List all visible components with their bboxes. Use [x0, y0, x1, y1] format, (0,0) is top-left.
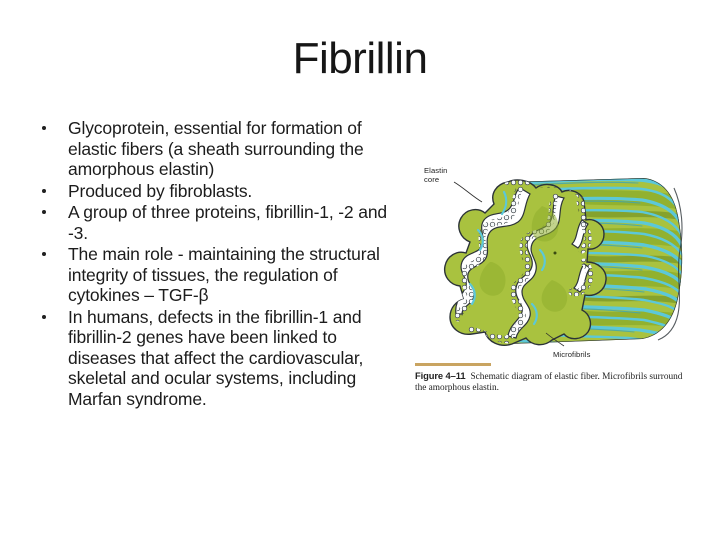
list-item-label: Glycoprotein, essential for formation of… [68, 118, 406, 180]
list-item-label: The main role - maintaining the structur… [68, 244, 406, 306]
list-item: In humans, defects in the fibrillin-1 an… [34, 307, 406, 410]
figure-label-microfibrils: Microfibrils [553, 350, 590, 359]
bullet-dot-icon [42, 315, 46, 319]
bullet-dot-icon [42, 189, 46, 193]
page-title: Fibrillin [0, 33, 720, 85]
bullet-dot-icon [42, 210, 46, 214]
figure-label-elastin-core: Elastin core [424, 166, 448, 184]
list-item-label: Produced by fibroblasts. [68, 181, 406, 202]
bullet-dot-icon [42, 252, 46, 256]
figure-caption: Figure 4–11Schematic diagram of elastic … [415, 370, 691, 395]
list-item: Produced by fibroblasts. [34, 181, 406, 202]
list-item-label: A group of three proteins, fibrillin-1, … [68, 202, 406, 243]
figure-caption-label: Figure 4–11 [415, 370, 466, 381]
figure-caption-rule [415, 363, 491, 366]
list-item: A group of three proteins, fibrillin-1, … [34, 202, 406, 243]
bullet-dot-icon [42, 126, 46, 130]
slide-canvas: Fibrillin Glycoprotein, essential for fo… [0, 0, 720, 539]
list-item-label: In humans, defects in the fibrillin-1 an… [68, 307, 406, 410]
elastin-core-leader-line [454, 182, 482, 202]
elastic-fiber-diagram-image [412, 158, 698, 358]
list-item: Glycoprotein, essential for formation of… [34, 118, 406, 180]
bullet-list: Glycoprotein, essential for formation of… [34, 118, 406, 410]
figure-block: Elastin core Microfibrils Figure 4–11Sch… [412, 158, 698, 406]
list-item: The main role - maintaining the structur… [34, 244, 406, 306]
